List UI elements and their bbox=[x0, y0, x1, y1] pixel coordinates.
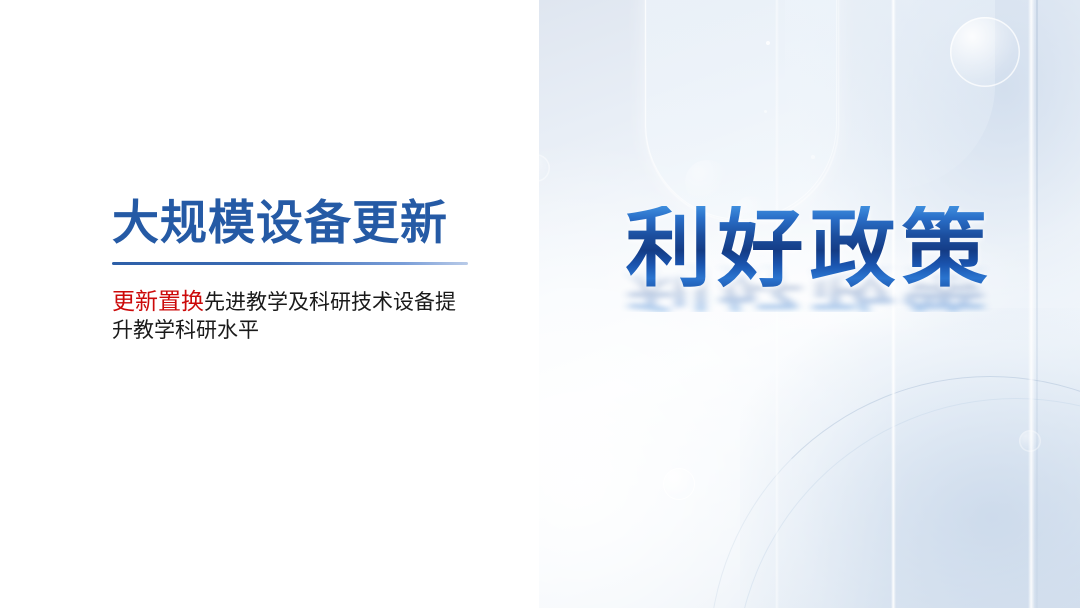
bubble-icon-small bbox=[663, 468, 695, 500]
subtitle-text: 更新置换先进教学及科研技术设备提升教学科研水平 bbox=[112, 286, 472, 344]
bubble-icon-soft-a bbox=[685, 160, 729, 204]
bubble-icon-large bbox=[950, 17, 1020, 87]
headline-block: 大规模设备更新 bbox=[112, 197, 472, 265]
hero-title: 利好政策 bbox=[539, 206, 1080, 292]
hero-title-wrap: 利好政策 bbox=[539, 206, 1080, 292]
subtitle-block: 更新置换先进教学及科研技术设备提升教学科研水平 bbox=[112, 286, 472, 344]
glass-seam-left bbox=[775, 0, 779, 608]
left-content-pane: 大规模设备更新 更新置换先进教学及科研技术设备提升教学科研水平 bbox=[0, 0, 539, 608]
page-title: 大规模设备更新 bbox=[112, 197, 472, 250]
slide-root: 大规模设备更新 更新置换先进教学及科研技术设备提升教学科研水平 bbox=[0, 0, 1080, 608]
sparkle-dot-a bbox=[766, 41, 770, 45]
glass-seam-shadow bbox=[1036, 0, 1038, 608]
subtitle-emphasis: 更新置换 bbox=[112, 288, 204, 314]
bubble-icon-faint bbox=[1019, 430, 1041, 452]
glass-seam-middle bbox=[891, 0, 896, 608]
sparkle-dot-c bbox=[811, 155, 815, 159]
right-glass-panel: 利好政策 利好政策 bbox=[539, 0, 1080, 608]
title-divider bbox=[112, 262, 468, 265]
glass-seam-right bbox=[1028, 0, 1035, 608]
sparkle-dot-b bbox=[764, 110, 767, 113]
